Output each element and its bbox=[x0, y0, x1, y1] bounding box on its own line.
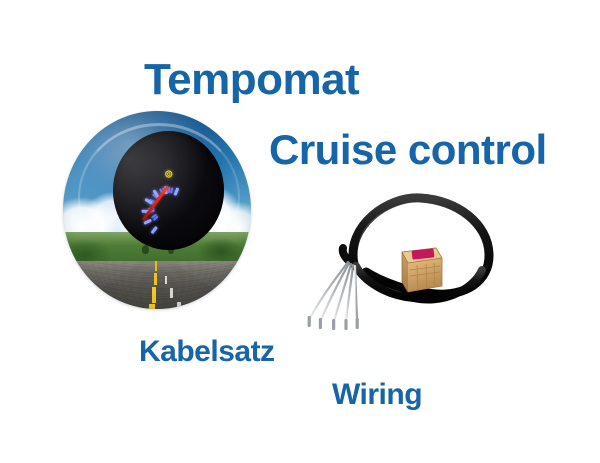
lane-marking-white bbox=[177, 302, 181, 309]
speedometer-tick bbox=[151, 226, 158, 234]
lead-wires bbox=[308, 262, 359, 330]
page-title-english: Cruise control bbox=[269, 129, 547, 171]
harness-connector bbox=[402, 248, 442, 292]
product-label-german: Kabelsatz bbox=[139, 337, 275, 367]
speedometer-tick-ring bbox=[113, 131, 224, 250]
lane-marking-yellow bbox=[149, 304, 155, 309]
speedometer-dial: ⊚ bbox=[113, 131, 224, 250]
speedometer-tick bbox=[174, 188, 180, 197]
cable-sheath-end bbox=[343, 248, 348, 260]
lane-marking-white bbox=[165, 276, 167, 284]
cruise-control-telltale-icon: ⊚ bbox=[164, 167, 172, 180]
page-title-german: Tempomat bbox=[144, 58, 359, 102]
product-label-english: Wiring bbox=[332, 380, 422, 410]
lane-marking-yellow bbox=[152, 287, 156, 303]
poster-canvas: Tempomat Cruise control Kabelsatz Wiring… bbox=[0, 0, 600, 463]
lane-marking-yellow bbox=[154, 273, 157, 285]
lane-marking-white bbox=[170, 288, 173, 298]
lane-marking-yellow bbox=[155, 261, 157, 271]
speedometer-road-photo: ⊚ bbox=[63, 111, 251, 309]
wiring-harness-photo bbox=[296, 186, 506, 331]
lead-wire-tips bbox=[308, 316, 359, 330]
